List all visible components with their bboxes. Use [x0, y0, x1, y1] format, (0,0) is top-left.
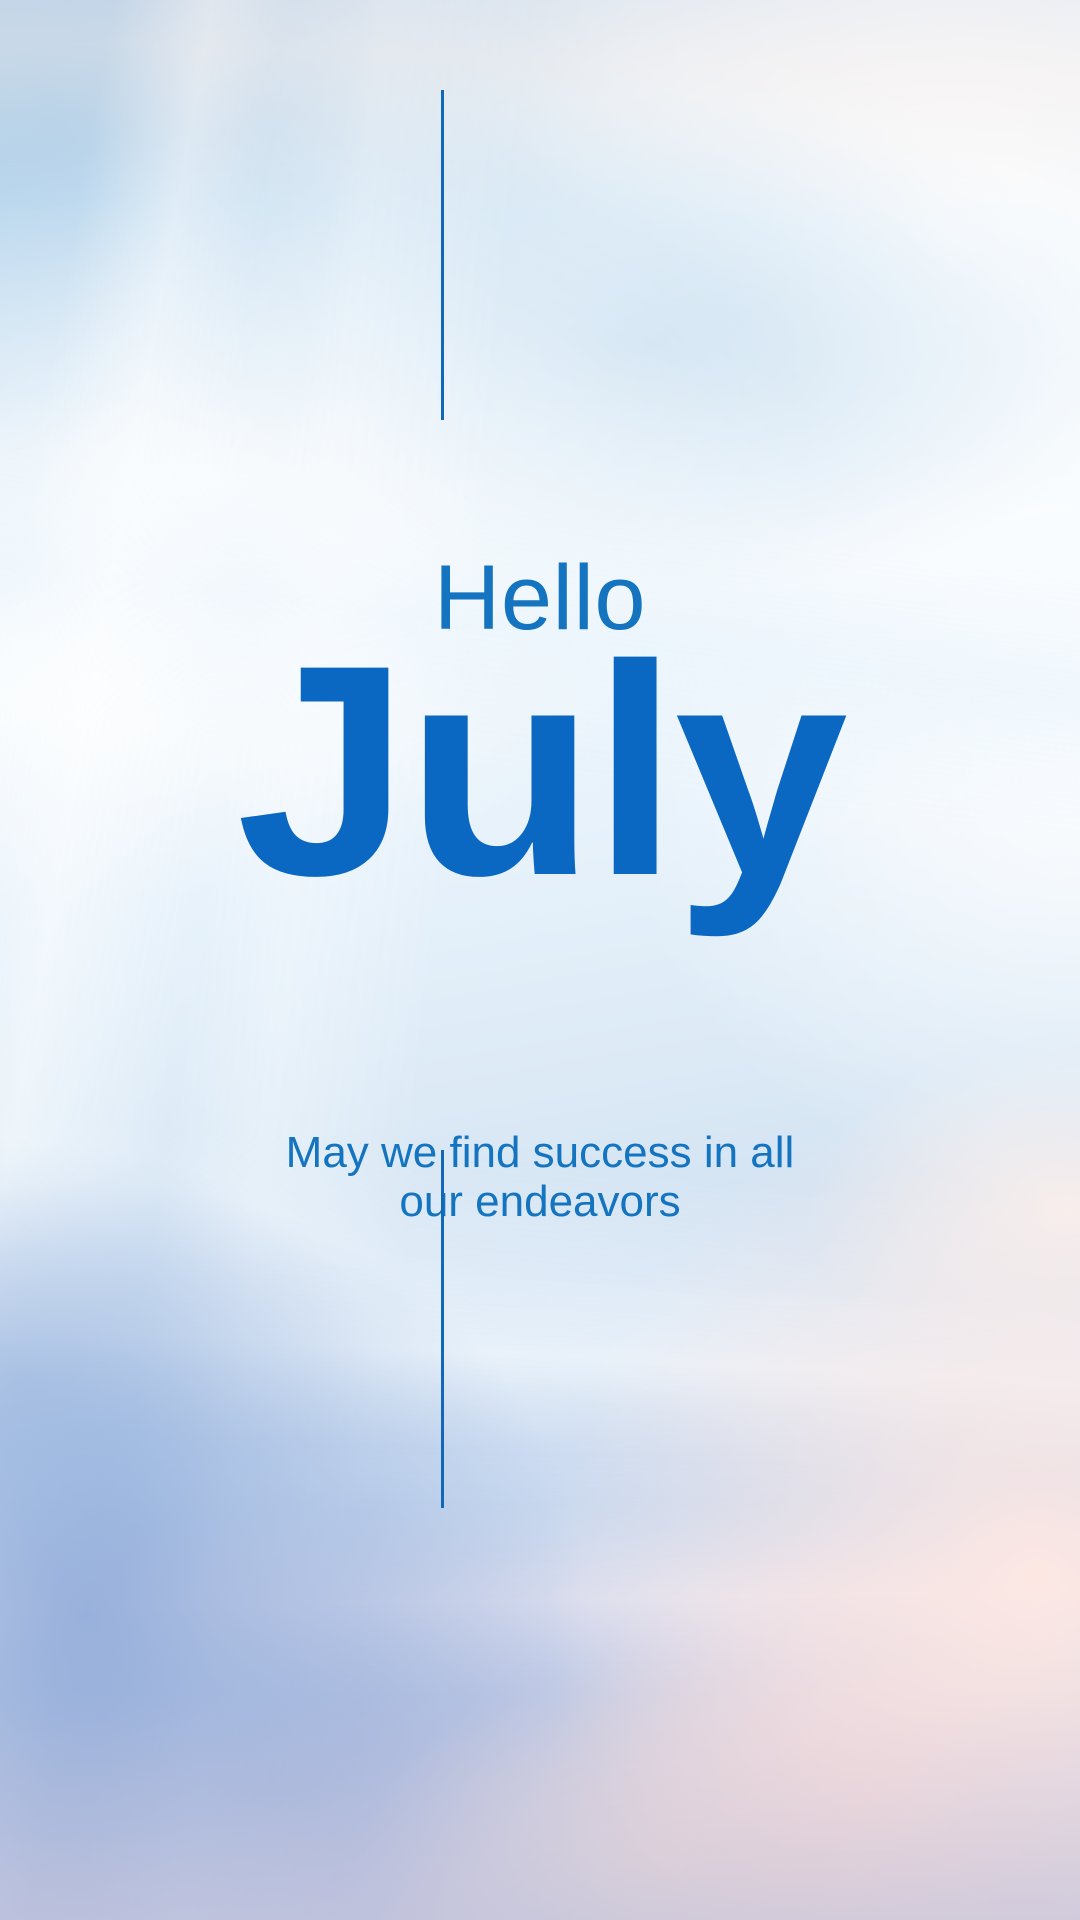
tagline-line-1: May we find success in all — [220, 1128, 860, 1177]
poster-content: Hello July May we find success in all ou… — [0, 0, 1080, 1920]
tagline: May we find success in all our endeavors — [220, 1128, 860, 1227]
bottom-vertical-rule-divider — [441, 1150, 444, 1508]
poster-canvas: Hello July May we find success in all ou… — [0, 0, 1080, 1920]
month-title: July — [0, 620, 1080, 920]
tagline-line-2: our endeavors — [220, 1177, 860, 1226]
top-vertical-rule-divider — [441, 90, 444, 420]
